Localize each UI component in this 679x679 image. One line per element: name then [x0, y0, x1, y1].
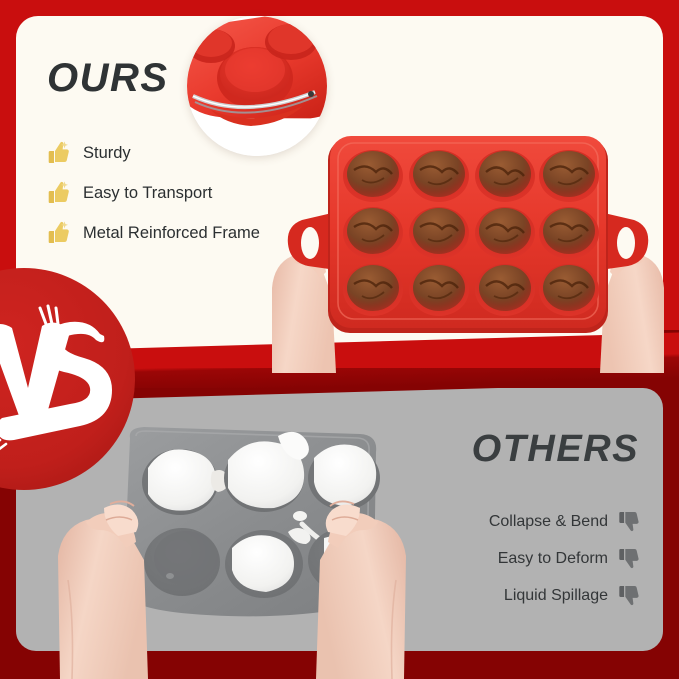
- versus-badge: [0, 268, 126, 490]
- thumbs-down-icon: [619, 510, 641, 534]
- metal-frame-inset-closeup: [187, 16, 327, 156]
- con-label: Easy to Deform: [498, 550, 608, 568]
- thumbs-down-icon: [619, 584, 641, 608]
- pro-label: Sturdy: [83, 144, 131, 163]
- ours-product-image: [258, 128, 679, 373]
- con-row: Liquid Spillage: [441, 577, 641, 614]
- con-row: Easy to Deform: [441, 540, 641, 577]
- thumbs-up-icon: [46, 140, 70, 166]
- con-row: Collapse & Bend: [441, 503, 641, 540]
- pro-label: Easy to Transport: [83, 184, 212, 203]
- thumbs-up-icon: [46, 220, 70, 246]
- thumbs-up-icon: [46, 180, 70, 206]
- thumbs-down-icon: [619, 547, 641, 571]
- infographic-canvas: OURS Sturdy Easy to Transport: [0, 0, 679, 679]
- pro-label: Metal Reinforced Frame: [83, 224, 260, 243]
- left-hand: [58, 501, 148, 679]
- right-hand: [316, 501, 406, 679]
- others-heading: OTHERS: [472, 428, 639, 471]
- ours-heading: OURS: [47, 56, 169, 101]
- con-label: Collapse & Bend: [489, 513, 608, 531]
- cons-list: Collapse & Bend Easy to Deform Liquid Sp…: [441, 503, 641, 614]
- con-label: Liquid Spillage: [504, 587, 608, 605]
- red-muffin-tray: [328, 136, 608, 333]
